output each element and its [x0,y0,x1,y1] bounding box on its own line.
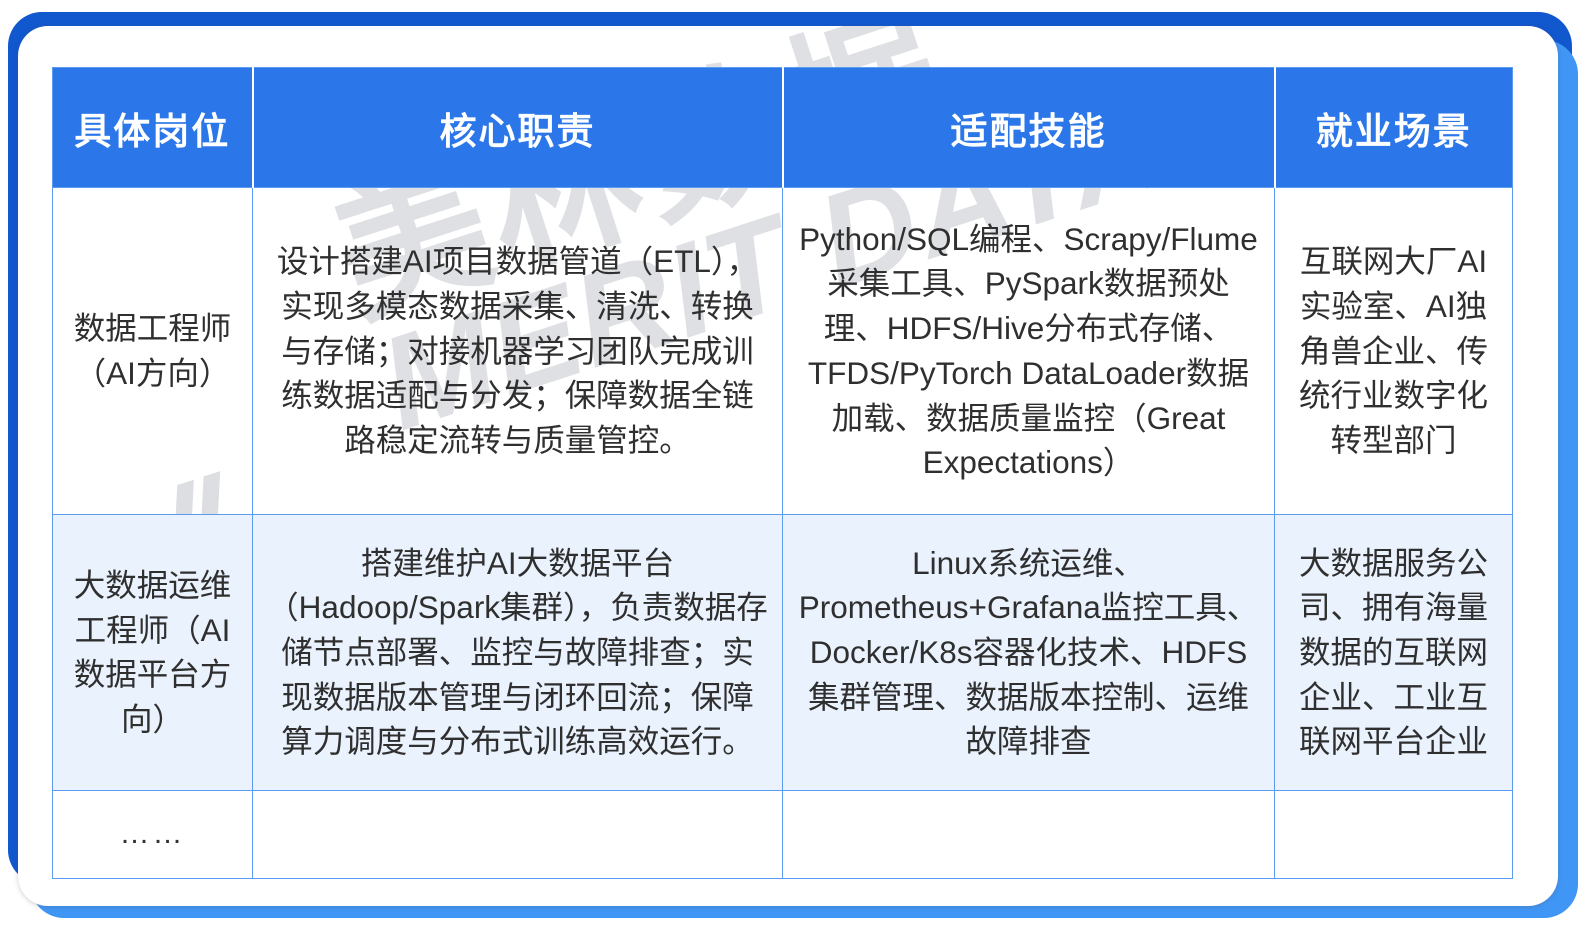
table-header-row: 具体岗位 核心职责 适配技能 就业场景 [53,68,1513,188]
cell-duties: 搭建维护AI大数据平台（Hadoop/Spark集群），负责数据存储节点部署、监… [253,514,783,790]
cell-duties-empty [253,791,783,879]
jobs-table-container: 具体岗位 核心职责 适配技能 就业场景 数据工程师（AI方向） 设计搭建AI项目… [52,67,1512,879]
cell-skills: Linux系统运维、Prometheus+Grafana监控工具、Docker/… [783,514,1275,790]
table-row: 大数据运维工程师（AI数据平台方向） 搭建维护AI大数据平台（Hadoop/Sp… [53,514,1513,790]
jobs-table: 具体岗位 核心职责 适配技能 就业场景 数据工程师（AI方向） 设计搭建AI项目… [52,67,1513,879]
table-header: 具体岗位 核心职责 适配技能 就业场景 [53,68,1513,188]
cell-scenes: 互联网大厂AI实验室、AI独角兽企业、传统行业数字化转型部门 [1275,188,1513,515]
table-body: 数据工程师（AI方向） 设计搭建AI项目数据管道（ETL），实现多模态数据采集、… [53,188,1513,879]
table-row: …… [53,791,1513,879]
cell-position: 大数据运维工程师（AI数据平台方向） [53,514,253,790]
table-row: 数据工程师（AI方向） 设计搭建AI项目数据管道（ETL），实现多模态数据采集、… [53,188,1513,515]
cell-skills-empty [783,791,1275,879]
cell-scenes: 大数据服务公司、拥有海量数据的互联网企业、工业互联网平台企业 [1275,514,1513,790]
screenshot-root: // 美林数据 MERIT DATA 具体岗位 核心职责 适配技能 就业场景 数… [0,0,1580,944]
cell-scenes-empty [1275,791,1513,879]
column-header-scenes: 就业场景 [1275,68,1513,188]
cell-position: 数据工程师（AI方向） [53,188,253,515]
cell-skills: Python/SQL编程、Scrapy/Flume采集工具、PySpark数据预… [783,188,1275,515]
cell-duties: 设计搭建AI项目数据管道（ETL），实现多模态数据采集、清洗、转换与存储；对接机… [253,188,783,515]
column-header-duties: 核心职责 [253,68,783,188]
cell-position-ellipsis: …… [53,791,253,879]
column-header-skills: 适配技能 [783,68,1275,188]
column-header-position: 具体岗位 [53,68,253,188]
